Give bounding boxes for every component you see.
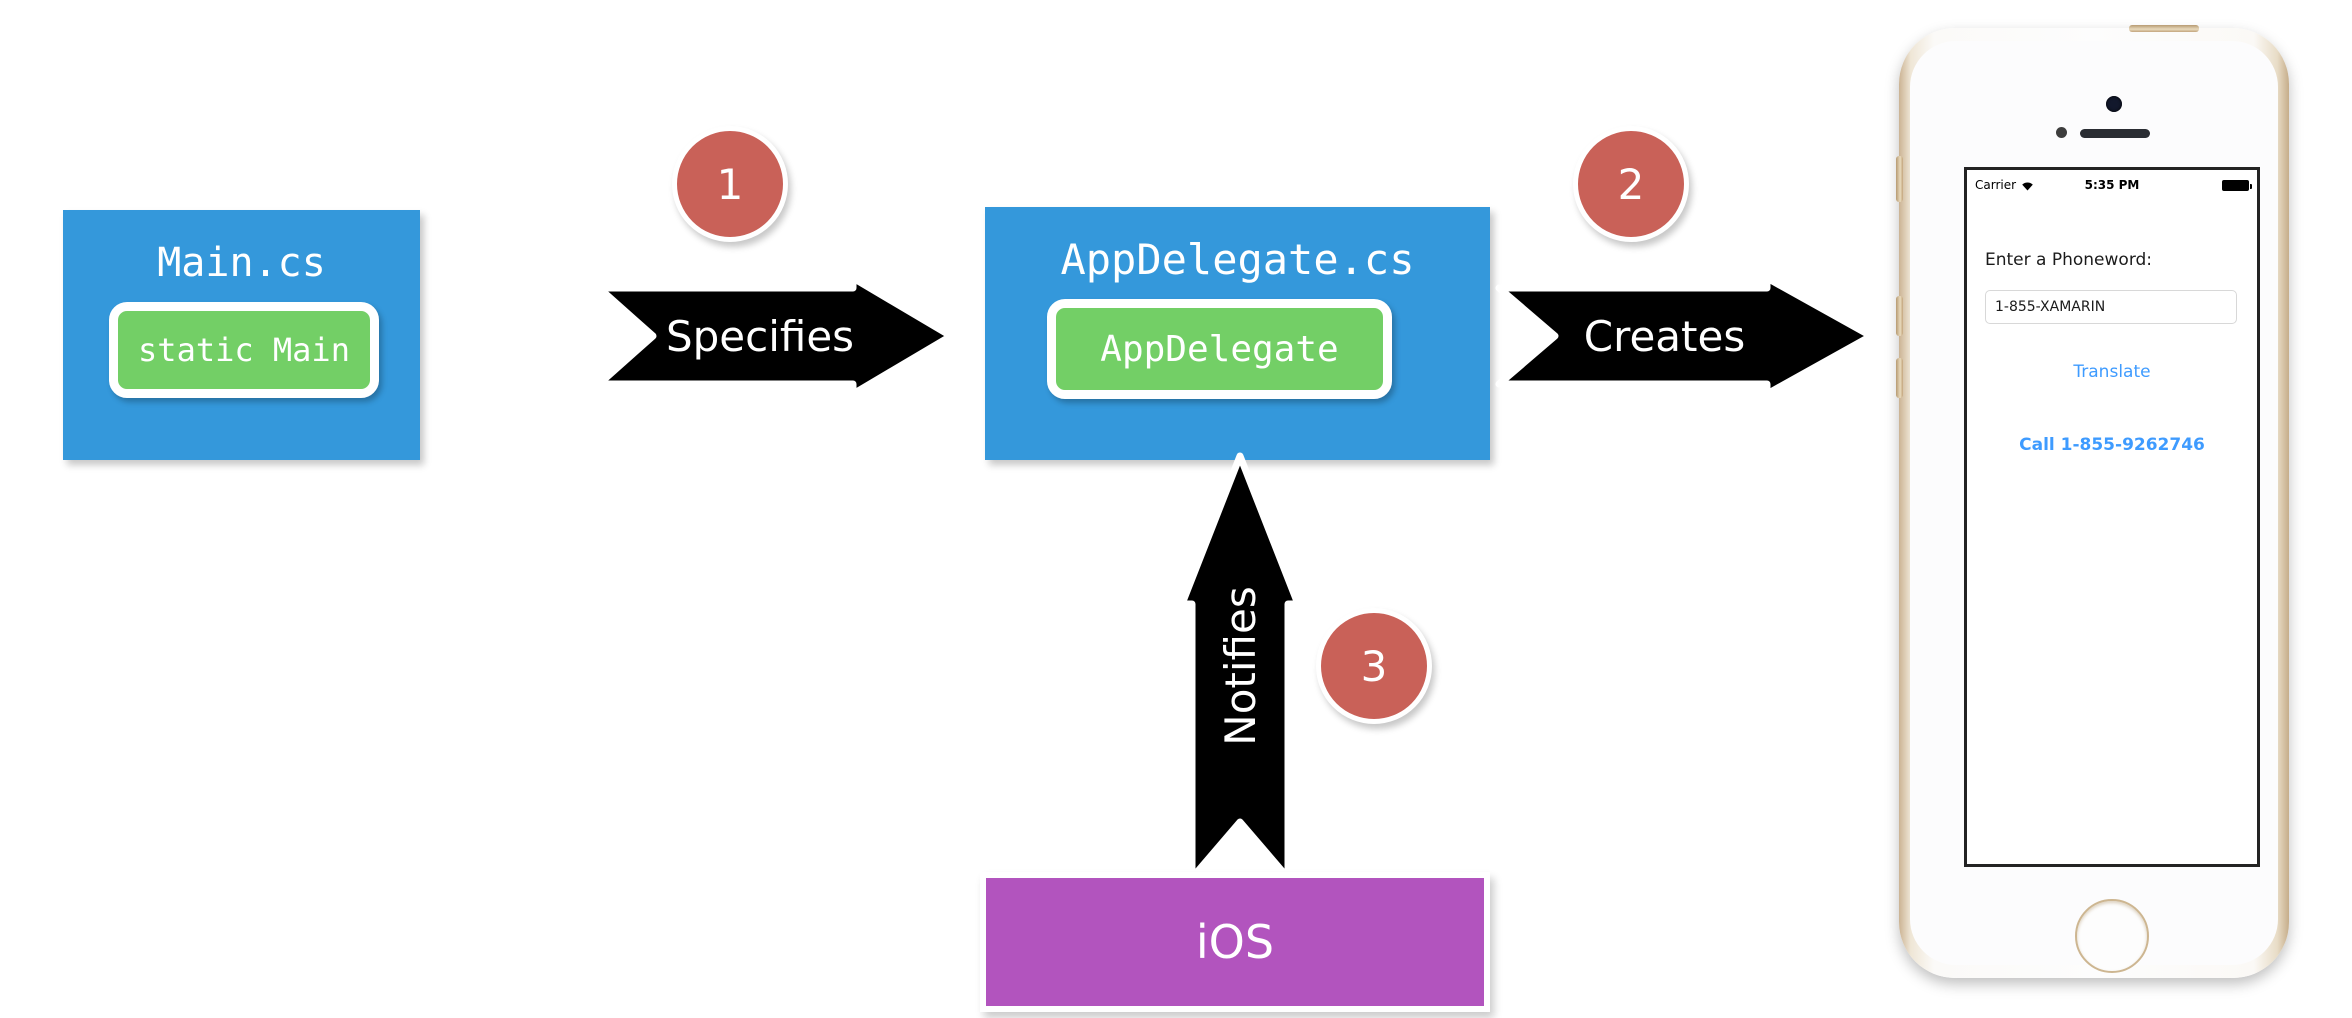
node-ios: iOS (980, 872, 1490, 1012)
arrow-notifies-label: Notifies (1186, 537, 1294, 795)
front-camera-icon (2106, 96, 2122, 112)
proximity-sensor-icon (2056, 127, 2067, 138)
arrow-creates-label: Creates (1557, 282, 1772, 390)
power-button[interactable] (2129, 25, 2199, 32)
volume-down-button[interactable] (1896, 358, 1903, 398)
status-bar-battery-group (2222, 180, 2249, 191)
node-main-cs: Main.cs static Main (63, 210, 420, 460)
iphone-device: Carrier 5:35 PM (1893, 18, 2297, 990)
step-badge-2-number: 2 (1618, 160, 1645, 209)
step-badge-2: 2 (1573, 126, 1689, 242)
step-badge-3: 3 (1316, 608, 1432, 724)
diagram-canvas: Main.cs static Main Specifies 1 AppDeleg… (0, 0, 2352, 1018)
step-badge-1-number: 1 (717, 160, 744, 209)
step-badge-1: 1 (672, 126, 788, 242)
node-main-cs-chip-label: static Main (138, 331, 350, 369)
arrow-specifies: Specifies (595, 282, 955, 390)
battery-full-icon (2222, 180, 2249, 191)
home-button[interactable] (2075, 899, 2149, 973)
translate-button[interactable]: Translate (1967, 362, 2257, 382)
node-appdelegate-cs-chip-label: AppDelegate (1100, 329, 1338, 370)
node-main-cs-title: Main.cs (63, 240, 420, 286)
earpiece-speaker-icon (2080, 129, 2150, 138)
call-button[interactable]: Call 1-855-9262746 (1967, 435, 2257, 455)
step-badge-3-number: 3 (1361, 642, 1388, 691)
phone-screen: Carrier 5:35 PM (1964, 167, 2260, 867)
node-appdelegate-cs-title: AppDelegate.cs (985, 235, 1490, 284)
node-ios-label: iOS (1196, 915, 1274, 969)
node-main-cs-chip: static Main (109, 302, 379, 398)
status-bar: Carrier 5:35 PM (1967, 170, 2257, 200)
node-appdelegate-cs: AppDelegate.cs AppDelegate (985, 207, 1490, 460)
phone-body: Carrier 5:35 PM (1899, 28, 2289, 978)
phoneword-prompt-label: Enter a Phoneword: (1985, 250, 2152, 270)
mute-switch[interactable] (1896, 156, 1903, 202)
arrow-creates: Creates (1495, 282, 1875, 390)
status-bar-time: 5:35 PM (1967, 178, 2257, 192)
volume-up-button[interactable] (1896, 296, 1903, 336)
node-appdelegate-cs-chip: AppDelegate (1047, 299, 1392, 399)
arrow-specifies-label: Specifies (655, 282, 865, 390)
phone-front-panel: Carrier 5:35 PM (1910, 41, 2278, 965)
app-content: Enter a Phoneword: 1-855-XAMARIN Transla… (1967, 200, 2257, 864)
phoneword-input[interactable]: 1-855-XAMARIN (1985, 290, 2237, 324)
arrow-notifies: Notifies (1186, 452, 1294, 882)
